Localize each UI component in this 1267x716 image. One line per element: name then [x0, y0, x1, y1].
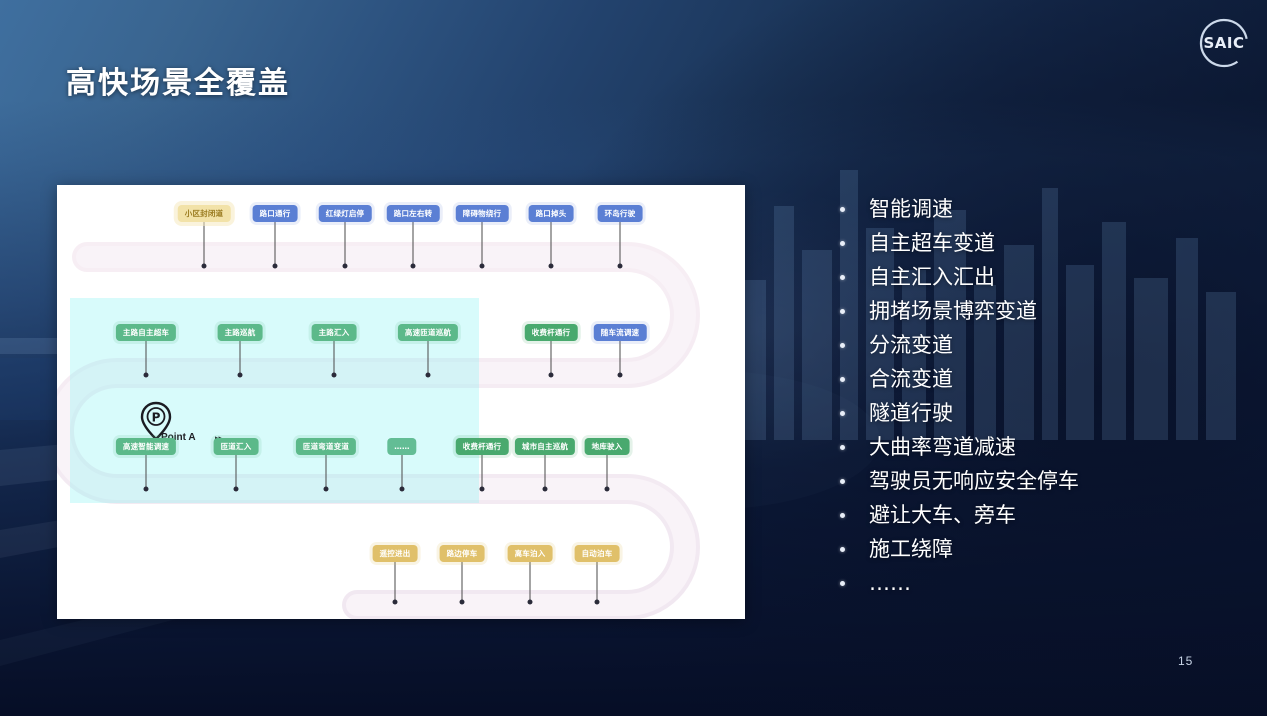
- chip-leader-dot: [332, 373, 337, 378]
- scenario-chip[interactable]: 收费杆通行: [525, 324, 578, 341]
- scenario-chip[interactable]: 收费杆通行: [456, 438, 509, 455]
- page-title: 高快场景全覆盖: [66, 58, 290, 102]
- scenario-chip[interactable]: 离车泊入: [508, 545, 553, 562]
- chip-leader-line: [482, 455, 483, 489]
- chip-leader-line: [413, 222, 414, 266]
- chip-leader-dot: [549, 264, 554, 269]
- chip-leader-dot: [324, 487, 329, 492]
- bullet-item: 驾驶员无响应安全停车: [840, 465, 1240, 499]
- chip-leader-line: [236, 455, 237, 489]
- scenario-chip[interactable]: 地库驶入: [585, 438, 630, 455]
- chip-leader-dot: [426, 373, 431, 378]
- chip-leader-dot: [528, 600, 533, 605]
- chip-leader-dot: [144, 487, 149, 492]
- svg-text:P: P: [152, 411, 161, 425]
- slide-background: 高快场景全覆盖 SAIC 15 智能调速自主超车变道自主汇入汇出拥堵场景博弈变道…: [0, 0, 1267, 716]
- chip-leader-line: [275, 222, 276, 266]
- chip-leader-line: [545, 455, 546, 489]
- bullet-label: 自主汇入汇出: [869, 261, 995, 293]
- chip-leader-line: [620, 222, 621, 266]
- scenario-chip[interactable]: 路口掉头: [529, 205, 574, 222]
- chip-leader-dot: [234, 487, 239, 492]
- chip-leader-line: [204, 222, 205, 266]
- bullet-dot-icon: [840, 241, 845, 246]
- scenario-coverage-diagram: P Point A ▸▸ P Point B ◂◂ 小区封闭道路口通行红绿灯启停…: [57, 185, 745, 619]
- chip-leader-line: [345, 222, 346, 266]
- chip-leader-dot: [273, 264, 278, 269]
- chip-leader-line: [551, 222, 552, 266]
- scenario-chip[interactable]: 路口左右转: [387, 205, 440, 222]
- bullet-dot-icon: [840, 377, 845, 382]
- scenario-chip[interactable]: 红绿灯启停: [319, 205, 372, 222]
- bullet-label: 智能调速: [869, 193, 953, 225]
- chip-leader-dot: [238, 373, 243, 378]
- bullet-item: 避让大车、旁车: [840, 499, 1240, 533]
- scenario-chip[interactable]: 自动泊车: [575, 545, 620, 562]
- chip-leader-line: [334, 341, 335, 375]
- chip-leader-dot: [605, 487, 610, 492]
- page-number: 15: [1178, 654, 1193, 668]
- bullet-label: 驾驶员无响应安全停车: [869, 465, 1079, 497]
- chip-leader-line: [482, 222, 483, 266]
- chip-leader-dot: [343, 264, 348, 269]
- bullet-label: 拥堵场景博弈变道: [869, 295, 1037, 327]
- bullet-dot-icon: [840, 207, 845, 212]
- scenario-chip[interactable]: 主路巡航: [218, 324, 263, 341]
- chip-leader-dot: [144, 373, 149, 378]
- chip-leader-line: [395, 562, 396, 602]
- bullet-label: 隧道行驶: [869, 397, 953, 429]
- chip-leader-dot: [480, 487, 485, 492]
- bullet-dot-icon: [840, 547, 845, 552]
- scenario-chip[interactable]: 小区封闭道: [178, 205, 231, 222]
- bullet-dot-icon: [840, 479, 845, 484]
- scenario-chip[interactable]: 路口通行: [253, 205, 298, 222]
- bullet-item: 自主超车变道: [840, 227, 1240, 261]
- chip-leader-line: [240, 341, 241, 375]
- bullet-label: 施工绕障: [869, 533, 953, 565]
- saic-logo: SAIC: [1195, 14, 1253, 72]
- chip-leader-line: [620, 341, 621, 375]
- bullet-dot-icon: [840, 411, 845, 416]
- bullet-dot-icon: [840, 309, 845, 314]
- bullet-item: 隧道行驶: [840, 397, 1240, 431]
- bullet-label: 分流变道: [869, 329, 953, 361]
- feature-bullet-list: 智能调速自主超车变道自主汇入汇出拥堵场景博弈变道分流变道合流变道隧道行驶大曲率弯…: [840, 193, 1240, 601]
- scenario-chip[interactable]: 遥控进出: [373, 545, 418, 562]
- scenario-chip[interactable]: 环岛行驶: [598, 205, 643, 222]
- scenario-chip[interactable]: 随车流调速: [594, 324, 647, 341]
- chip-leader-dot: [595, 600, 600, 605]
- scenario-chip[interactable]: 障碍物绕行: [456, 205, 509, 222]
- bullet-dot-icon: [840, 343, 845, 348]
- bullet-label: 大曲率弯道减速: [869, 431, 1016, 463]
- chip-leader-line: [551, 341, 552, 375]
- bullet-dot-icon: [840, 513, 845, 518]
- chip-leader-dot: [400, 487, 405, 492]
- bullet-item: ……: [840, 567, 1240, 601]
- chip-leader-line: [530, 562, 531, 602]
- bullet-item: 拥堵场景博弈变道: [840, 295, 1240, 329]
- chip-leader-dot: [543, 487, 548, 492]
- chip-leader-line: [402, 455, 403, 489]
- scenario-chip[interactable]: 高速智能调速: [116, 438, 176, 455]
- svg-text:SAIC: SAIC: [1203, 34, 1244, 52]
- bullet-item: 分流变道: [840, 329, 1240, 363]
- scenario-chip[interactable]: 主路自主超车: [116, 324, 176, 341]
- scenario-chip[interactable]: ……: [387, 438, 416, 455]
- chip-leader-line: [146, 455, 147, 489]
- bullet-dot-icon: [840, 275, 845, 280]
- bullet-label: 避让大车、旁车: [869, 499, 1016, 531]
- chip-leader-dot: [618, 264, 623, 269]
- bullet-item: 智能调速: [840, 193, 1240, 227]
- chip-leader-line: [462, 562, 463, 602]
- chip-leader-line: [597, 562, 598, 602]
- chip-leader-line: [428, 341, 429, 375]
- chip-leader-dot: [480, 264, 485, 269]
- scenario-chip[interactable]: 匝道弯道变道: [296, 438, 356, 455]
- bullet-label: ……: [869, 567, 911, 599]
- scenario-chip[interactable]: 主路汇入: [312, 324, 357, 341]
- chip-leader-line: [607, 455, 608, 489]
- scenario-chip[interactable]: 城市自主巡航: [515, 438, 575, 455]
- chip-leader-line: [146, 341, 147, 375]
- chip-leader-dot: [460, 600, 465, 605]
- scenario-chip[interactable]: 匝道汇入: [214, 438, 259, 455]
- chip-leader-line: [326, 455, 327, 489]
- bullet-label: 合流变道: [869, 363, 953, 395]
- chip-leader-dot: [618, 373, 623, 378]
- scenario-chip[interactable]: 高速匝道巡航: [398, 324, 458, 341]
- bullet-dot-icon: [840, 445, 845, 450]
- bullet-label: 自主超车变道: [869, 227, 995, 259]
- chip-leader-dot: [549, 373, 554, 378]
- bullet-item: 合流变道: [840, 363, 1240, 397]
- bullet-dot-icon: [840, 581, 845, 586]
- chip-leader-dot: [393, 600, 398, 605]
- bullet-item: 自主汇入汇出: [840, 261, 1240, 295]
- scenario-chip[interactable]: 路边停车: [440, 545, 485, 562]
- chip-leader-dot: [411, 264, 416, 269]
- chip-leader-dot: [202, 264, 207, 269]
- bullet-item: 施工绕障: [840, 533, 1240, 567]
- bullet-item: 大曲率弯道减速: [840, 431, 1240, 465]
